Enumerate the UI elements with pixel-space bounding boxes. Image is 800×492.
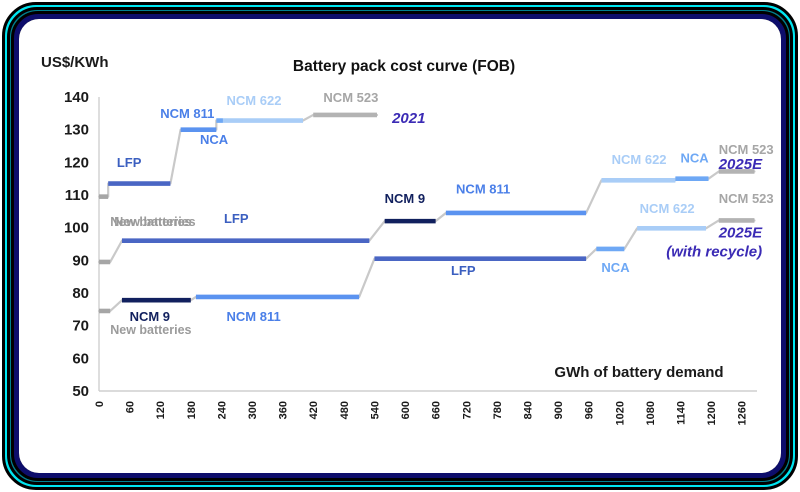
x-tick-1020: 1020 (614, 401, 626, 425)
x-tick-780: 780 (492, 401, 504, 419)
x-axis-title: GWh of battery demand (554, 364, 723, 381)
x-tick-360: 360 (278, 401, 290, 419)
x-tick-1200: 1200 (706, 401, 718, 425)
segment-label-2-0: New batteries (110, 323, 191, 337)
x-tick-300: 300 (247, 401, 259, 419)
chart-canvas: US$/KWh Battery pack cost curve (FOB) GW… (19, 19, 781, 473)
x-tick-420: 420 (308, 401, 320, 419)
segment-label-0-4: NCM 622 (227, 93, 282, 108)
segment-label-0-2: NCM 811 (160, 106, 214, 121)
segment-label-2-4: NCA (601, 260, 630, 275)
scenario-label-1: 2025E (718, 156, 763, 173)
scenario-label-2: 2025E (718, 224, 763, 241)
scenario-labels: 20212025E2025E(with recycle) (391, 110, 763, 260)
x-tick-0: 0 (94, 401, 106, 407)
x-axis-tick-labels: 0601201802403003604204805406006607207808… (94, 401, 749, 425)
segment-label-0-3: NCA (200, 132, 229, 147)
battery-cost-curve-chart: US$/KWh Battery pack cost curve (FOB) GW… (19, 19, 781, 473)
scenario-label-0: 2021 (391, 110, 425, 127)
y-axis-unit-label: US$/KWh (41, 54, 109, 71)
series-connector-1 (99, 171, 754, 261)
segment-label-2-5: NCM 622 (640, 201, 695, 216)
x-tick-120: 120 (155, 401, 167, 419)
x-tick-1140: 1140 (675, 401, 687, 425)
chart-title: Battery pack cost curve (FOB) (293, 58, 515, 75)
x-tick-60: 60 (125, 401, 137, 413)
y-tick-50: 50 (72, 383, 89, 400)
segment-label-0-5: NCM 523 (323, 90, 378, 105)
x-tick-480: 480 (339, 401, 351, 419)
segment-label-1-1: LFP (224, 211, 249, 226)
segment-label-2-2: NCM 811 (227, 309, 281, 324)
segment-label-1-4: NCM 622 (612, 152, 667, 167)
x-tick-900: 900 (553, 401, 565, 419)
segment-label-1-0: New batteries (110, 215, 191, 229)
y-axis-tick-labels: 5060708090100110120130140 (64, 89, 89, 400)
segment-label-2-1: NCM 9 (130, 309, 170, 324)
x-tick-180: 180 (186, 401, 198, 419)
y-tick-70: 70 (72, 318, 89, 335)
y-tick-60: 60 (72, 350, 89, 367)
x-tick-720: 720 (461, 401, 473, 419)
x-tick-960: 960 (584, 401, 596, 419)
y-tick-130: 130 (64, 122, 89, 139)
screenshot-frame: US$/KWh Battery pack cost curve (FOB) GW… (0, 0, 800, 492)
x-tick-600: 600 (400, 401, 412, 419)
y-tick-90: 90 (72, 252, 89, 269)
segment-label-2-6: NCM 523 (719, 191, 774, 206)
y-tick-120: 120 (64, 154, 89, 171)
segment-label-1-5: NCA (680, 150, 709, 165)
x-tick-840: 840 (522, 401, 534, 419)
y-tick-110: 110 (65, 187, 89, 204)
segment-label-1-3: NCM 811 (456, 181, 510, 196)
x-tick-1260: 1260 (737, 401, 749, 425)
y-tick-100: 100 (64, 220, 89, 237)
x-tick-1080: 1080 (645, 401, 657, 425)
segment-label-1-2: NCM 9 (385, 191, 425, 206)
x-tick-660: 660 (431, 401, 443, 419)
segment-label-2-3: LFP (451, 263, 476, 278)
series-inline-labels: New batteriesLFPNCM 811NCANCM 622NCM 523… (110, 90, 773, 337)
segment-label-0-1: LFP (117, 155, 142, 170)
y-tick-80: 80 (72, 285, 89, 302)
scenario-sublabel-2: (with recycle) (666, 243, 762, 260)
y-tick-140: 140 (64, 89, 89, 106)
x-tick-240: 240 (216, 401, 228, 419)
x-tick-540: 540 (369, 401, 381, 419)
